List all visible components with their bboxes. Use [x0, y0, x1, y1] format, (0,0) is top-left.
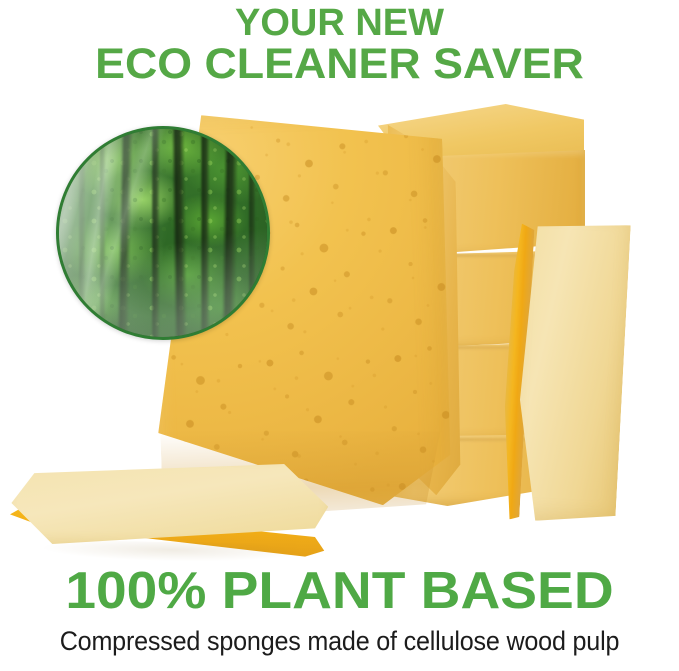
- claim-title: 100% PLANT BASED: [0, 565, 679, 617]
- leaning-sponge: [497, 219, 631, 525]
- claim-caption: Compressed sponges made of cellulose woo…: [24, 628, 655, 655]
- headline-line-1: YOUR NEW: [0, 4, 679, 42]
- product-infographic: YOUR NEW ECO CLEANER SAVER 100% PLANT BA…: [0, 0, 679, 671]
- forest-vignette: [59, 129, 267, 337]
- flat-compressed-sponge: [7, 459, 329, 575]
- forest-circle-inset: [56, 126, 270, 340]
- headline-line-2: ECO CLEANER SAVER: [0, 43, 679, 86]
